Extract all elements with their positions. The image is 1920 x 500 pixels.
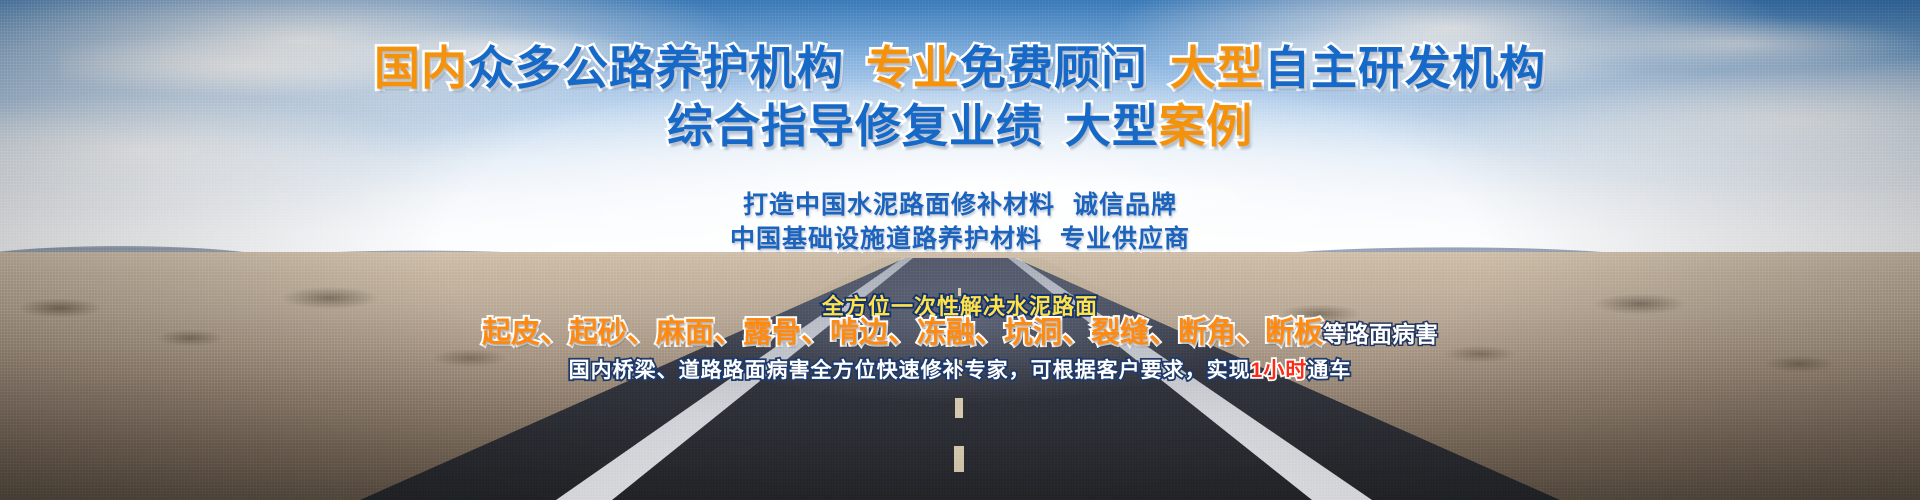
bottom-prefix: 国内桥梁、道路路面病害全方位快速修补专家，可根据客户要求，实现: [569, 359, 1251, 382]
headline-seg-zhuanye: 专业: [866, 42, 960, 94]
disease-list: 起皮、起砂、麻面、露骨、啃边、冻融、坑洞、裂缝、断角、断板: [482, 317, 1323, 349]
promo-banner: 国内众多公路养护机构专业免费顾问大型自主研发机构 综合指导修复业绩大型案例 打造…: [0, 0, 1920, 500]
bottom-highlight-hour: 1小时: [1251, 359, 1308, 382]
headline-seg-mianfei: 免费顾问: [960, 42, 1148, 94]
subheadline-line-1: 打造中国水泥路面修补材料诚信品牌: [0, 190, 1920, 220]
headline-seg-daxing: 大型: [1170, 42, 1264, 94]
headline-line-1: 国内众多公路养护机构专业免费顾问大型自主研发机构: [0, 42, 1920, 94]
headline-seg-guonei: 国内: [374, 42, 468, 94]
banner-copy: 国内众多公路养护机构专业免费顾问大型自主研发机构 综合指导修复业绩大型案例 打造…: [0, 0, 1920, 500]
headline-seg-zizhu: 自主研发机构: [1264, 42, 1546, 94]
bottom-claim-line: 国内桥梁、道路路面病害全方位快速修补专家，可根据客户要求，实现1小时通车: [0, 358, 1920, 384]
subheadline-2b: 专业供应商: [1060, 225, 1190, 253]
subheadline-line-2: 中国基础设施道路养护材料专业供应商: [0, 224, 1920, 254]
bottom-suffix: 通车: [1307, 359, 1351, 382]
headline-seg-anli: 案例: [1159, 100, 1253, 152]
subheadline-1b: 诚信品牌: [1073, 191, 1177, 219]
subheadline-2a: 中国基础设施道路养护材料: [730, 225, 1042, 253]
headline-line-2: 综合指导修复业绩大型案例: [0, 100, 1920, 152]
subheadline-1a: 打造中国水泥路面修补材料: [743, 191, 1055, 219]
headline-seg-zhongduo: 众多公路养护机构: [468, 42, 844, 94]
disease-list-line: 起皮、起砂、麻面、露骨、啃边、冻融、坑洞、裂缝、断角、断板等路面病害: [0, 316, 1920, 351]
headline-seg-daxing-2: 大型: [1065, 100, 1159, 152]
headline-seg-zonghe: 综合指导修复业绩: [667, 100, 1043, 152]
disease-suffix: 等路面病害: [1323, 321, 1438, 347]
